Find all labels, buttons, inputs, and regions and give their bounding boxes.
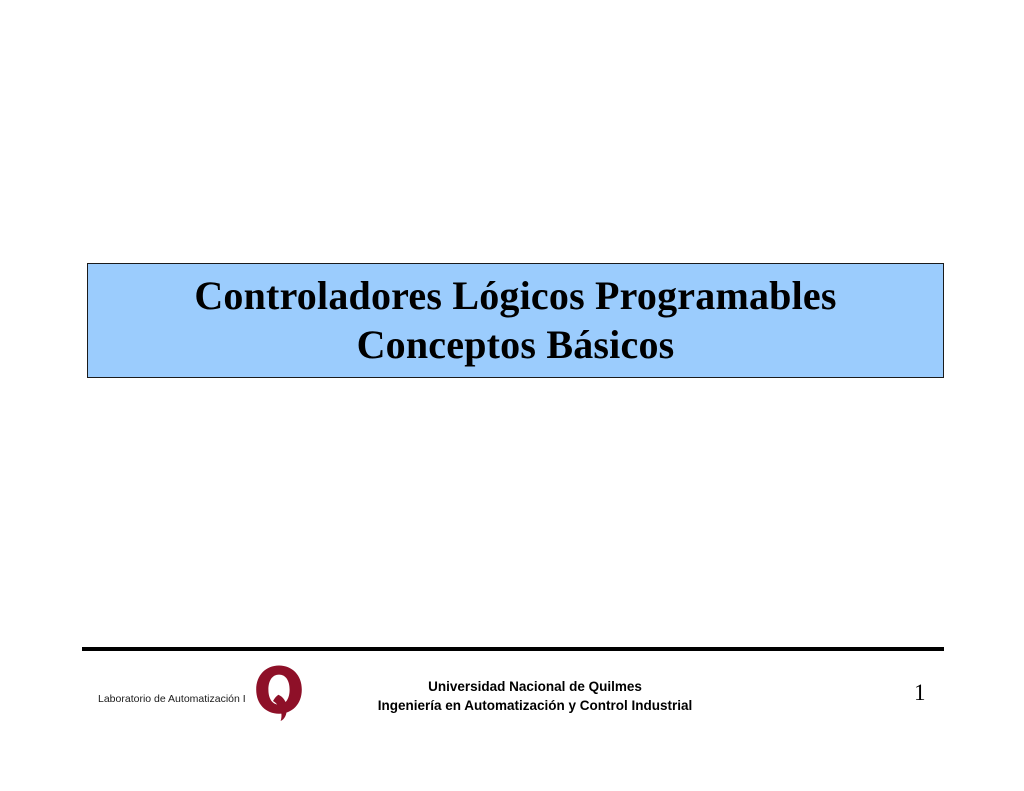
title-banner: Controladores Lógicos Programables Conce…	[87, 263, 944, 378]
footer-divider	[82, 647, 944, 651]
slide-footer: Laboratorio de Automatización I Universi…	[82, 655, 962, 725]
page-number: 1	[914, 680, 926, 706]
laboratory-label: Laboratorio de Automatización I	[98, 693, 246, 705]
organization-program-name: Ingeniería en Automatización y Control I…	[320, 696, 750, 715]
organization-university-name: Universidad Nacional de Quilmes	[320, 677, 750, 696]
organization-block: Universidad Nacional de Quilmes Ingenier…	[320, 677, 750, 715]
title-line-primary: Controladores Lógicos Programables	[194, 272, 836, 321]
slide-canvas: Controladores Lógicos Programables Conce…	[0, 0, 1024, 791]
title-line-secondary: Conceptos Básicos	[357, 321, 675, 370]
universidad-nacional-de-quilmes-q-logo	[252, 664, 306, 722]
